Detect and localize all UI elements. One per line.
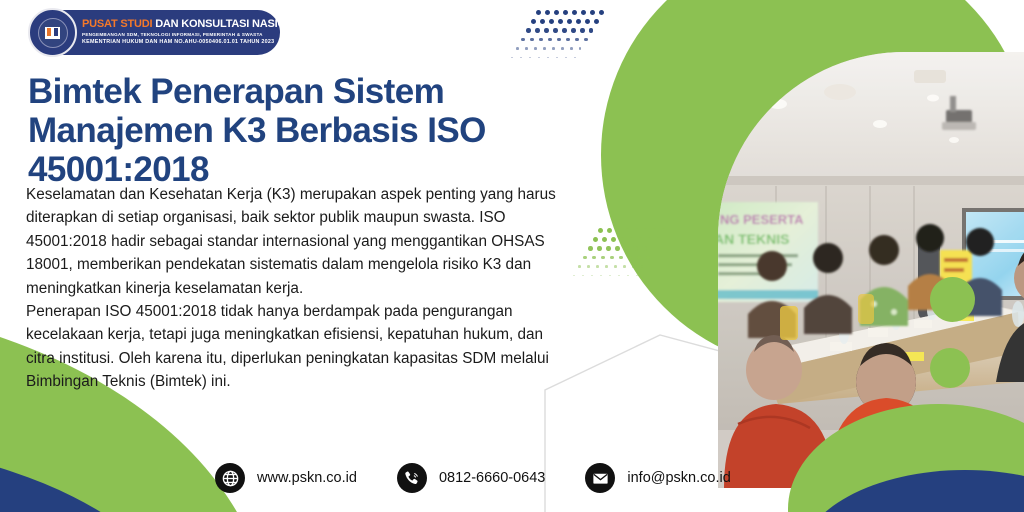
dot bbox=[627, 275, 629, 277]
navy-curve-bottom-left bbox=[0, 438, 190, 512]
dot bbox=[562, 28, 567, 33]
dot bbox=[521, 38, 525, 42]
dot-row bbox=[511, 55, 608, 64]
dot bbox=[620, 237, 625, 242]
dot-row bbox=[593, 237, 670, 246]
dot bbox=[553, 28, 558, 33]
dot bbox=[540, 19, 545, 24]
email-value: info@pskn.co.id bbox=[627, 470, 730, 486]
dot bbox=[565, 57, 567, 59]
dot bbox=[556, 57, 558, 59]
dot bbox=[619, 256, 623, 260]
dot bbox=[599, 10, 604, 15]
dot bbox=[536, 10, 541, 15]
dot bbox=[584, 38, 588, 42]
dot bbox=[563, 10, 568, 15]
dot bbox=[561, 47, 564, 50]
dot bbox=[578, 265, 581, 268]
dot-row bbox=[526, 28, 608, 37]
dot bbox=[614, 265, 617, 268]
dot bbox=[646, 256, 650, 260]
organization-logo-bar: PUSAT STUDI DAN KONSULTASI NASIONAL PENG… bbox=[30, 10, 280, 55]
dot bbox=[567, 19, 572, 24]
dot-row bbox=[598, 228, 670, 237]
logo-name-highlight: PUSAT STUDI bbox=[82, 18, 152, 30]
dot bbox=[593, 237, 598, 242]
envelope-icon bbox=[585, 463, 615, 493]
dot bbox=[624, 246, 629, 251]
dot bbox=[574, 57, 576, 59]
dot bbox=[525, 47, 528, 50]
green-dot-grid bbox=[598, 228, 670, 282]
dot bbox=[557, 38, 561, 42]
dot-row bbox=[578, 264, 670, 273]
dot bbox=[641, 265, 644, 268]
dot bbox=[607, 228, 612, 233]
dot bbox=[558, 19, 563, 24]
dot bbox=[651, 246, 656, 251]
dot bbox=[575, 38, 579, 42]
dot bbox=[579, 47, 582, 50]
dot bbox=[625, 228, 630, 233]
logo-legal-number: KEMENTRIAN HUKUM DAN HAM NO.AHU-0050406.… bbox=[82, 40, 308, 46]
dot bbox=[636, 275, 638, 277]
dot bbox=[623, 265, 626, 268]
dot bbox=[530, 38, 534, 42]
dot bbox=[543, 47, 546, 50]
dot bbox=[589, 28, 594, 33]
body-paragraph: Penerapan ISO 45001:2018 tidak hanya ber… bbox=[26, 300, 571, 394]
dot bbox=[638, 237, 643, 242]
dot bbox=[548, 38, 552, 42]
page-title: Bimtek Penerapan Sistem Manajemen K3 Ber… bbox=[28, 72, 568, 190]
dot bbox=[576, 19, 581, 24]
dot bbox=[592, 256, 596, 260]
dot-row bbox=[531, 19, 608, 28]
dot bbox=[587, 265, 590, 268]
dot bbox=[526, 28, 531, 33]
dot bbox=[634, 228, 639, 233]
dot bbox=[610, 256, 614, 260]
dot bbox=[652, 228, 657, 233]
dot-row bbox=[536, 10, 608, 19]
dot bbox=[583, 256, 587, 260]
poster-canvas: NG PESERTA AN TEKNIS bbox=[0, 0, 1024, 512]
logo-name-rest: DAN KONSULTASI NASIONAL bbox=[155, 18, 308, 30]
logo-subtitle: PENGEMBANGAN SDM, TEKNOLOGI INFORMASI, P… bbox=[82, 33, 308, 38]
dot bbox=[534, 47, 537, 50]
dot bbox=[544, 28, 549, 33]
dot bbox=[590, 10, 595, 15]
dot bbox=[529, 57, 531, 59]
body-copy: Keselamatan dan Kesehatan Kerja (K3) mer… bbox=[26, 183, 571, 394]
dot bbox=[572, 10, 577, 15]
dot bbox=[600, 275, 602, 277]
dot bbox=[611, 237, 616, 242]
footer-contact-bar: www.pskn.co.id 0812-6660-0643 info@pskn.… bbox=[215, 463, 731, 493]
phone-icon bbox=[397, 463, 427, 493]
green-circle-accent bbox=[930, 277, 975, 322]
dot bbox=[554, 10, 559, 15]
dot bbox=[539, 38, 543, 42]
dot bbox=[566, 38, 570, 42]
dot bbox=[616, 228, 621, 233]
dot bbox=[602, 237, 607, 242]
contact-email[interactable]: info@pskn.co.id bbox=[585, 463, 730, 493]
dot bbox=[633, 246, 638, 251]
green-circle-accent bbox=[930, 348, 970, 388]
dot-row bbox=[516, 46, 608, 55]
dot bbox=[596, 265, 599, 268]
dot bbox=[647, 237, 652, 242]
dot-row bbox=[573, 273, 670, 282]
dot bbox=[582, 275, 584, 277]
contact-phone[interactable]: 0812-6660-0643 bbox=[397, 463, 545, 493]
dot bbox=[615, 246, 620, 251]
dot bbox=[637, 256, 641, 260]
dot bbox=[545, 10, 550, 15]
dot bbox=[552, 47, 555, 50]
phone-value: 0812-6660-0643 bbox=[439, 470, 545, 486]
logo-organization-name: PUSAT STUDI DAN KONSULTASI NASIONAL bbox=[82, 19, 308, 31]
institution-seal-icon bbox=[28, 8, 77, 57]
globe-icon bbox=[215, 463, 245, 493]
dot bbox=[656, 237, 661, 242]
dot bbox=[571, 28, 576, 33]
dot bbox=[606, 246, 611, 251]
dot bbox=[547, 57, 549, 59]
dot bbox=[591, 275, 593, 277]
dot-row bbox=[521, 37, 608, 46]
dot bbox=[588, 246, 593, 251]
dot bbox=[580, 28, 585, 33]
dot bbox=[581, 10, 586, 15]
logo-text-block: PUSAT STUDI DAN KONSULTASI NASIONAL PENG… bbox=[82, 19, 308, 45]
dot bbox=[628, 256, 632, 260]
dot bbox=[618, 275, 620, 277]
dot bbox=[516, 47, 519, 50]
dot bbox=[605, 265, 608, 268]
dot bbox=[629, 237, 634, 242]
dot bbox=[549, 19, 554, 24]
contact-website[interactable]: www.pskn.co.id bbox=[215, 463, 357, 493]
dot bbox=[535, 28, 540, 33]
dot bbox=[531, 19, 536, 24]
dot-row bbox=[588, 246, 670, 255]
dot bbox=[573, 275, 575, 277]
navy-dot-grid bbox=[536, 10, 608, 64]
dot bbox=[594, 19, 599, 24]
dot bbox=[609, 275, 611, 277]
dot bbox=[642, 246, 647, 251]
dot bbox=[570, 47, 573, 50]
dot bbox=[511, 57, 513, 59]
dot bbox=[632, 265, 635, 268]
body-paragraph: Keselamatan dan Kesehatan Kerja (K3) mer… bbox=[26, 183, 571, 300]
dot bbox=[597, 246, 602, 251]
website-value: www.pskn.co.id bbox=[257, 470, 357, 486]
dot bbox=[601, 256, 605, 260]
dot bbox=[661, 228, 666, 233]
dot bbox=[643, 228, 648, 233]
dot bbox=[520, 57, 522, 59]
dot-row bbox=[583, 255, 670, 264]
dot bbox=[598, 228, 603, 233]
dot bbox=[585, 19, 590, 24]
dot bbox=[538, 57, 540, 59]
